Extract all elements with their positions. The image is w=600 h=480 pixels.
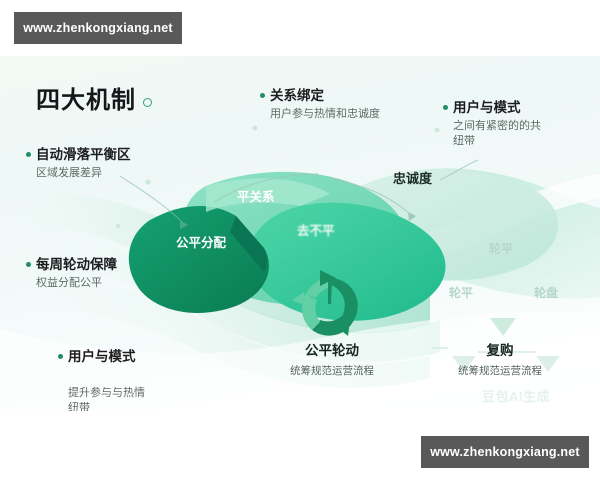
shape-label-loyalty: 忠诚度	[393, 168, 432, 187]
callout-weekly-rotation: 每周轮动保障 权益分配公平	[26, 257, 117, 291]
caption-title: 公平轮动	[268, 342, 396, 360]
callout-user-mode-right: 用户与模式 之间有紧密的的共 纽带	[443, 100, 541, 149]
callout-subtitle: 提升参与与热情 纽带	[68, 386, 145, 411]
bullet-dot-icon	[26, 152, 31, 157]
callout-subtitle: 权益分配公平	[36, 276, 117, 291]
artwork-canvas: 四大机制 平关系 公平分配 去不平 忠诚度 自动滑落平衡区 区域发展差异 每周轮…	[0, 56, 600, 411]
callout-title: 用户与模式	[58, 349, 145, 366]
ghost-label-right: 轮盘	[534, 284, 558, 301]
page-title: 四大机制	[36, 80, 136, 115]
callout-user-mode-left: 用户与模式 提升参与与热情 纽带	[58, 331, 145, 411]
caption-subtitle: 统筹规范运营流程	[434, 363, 566, 378]
callout-title: 用户与模式	[443, 100, 541, 117]
deco-dot	[435, 128, 440, 133]
callout-relation-binding: 关系绑定 用户参与热情和忠诚度	[260, 88, 380, 122]
bullet-dot-icon	[26, 262, 31, 267]
caption-fair-rotation: 公平轮动 统筹规范运营流程	[268, 342, 396, 378]
shape-label-fair-relation: 平关系	[237, 186, 275, 205]
callout-subtitle: 之间有紧密的的共 纽带	[453, 119, 541, 149]
bullet-dot-icon	[443, 105, 448, 110]
infographic-stage: 四大机制 平关系 公平分配 去不平 忠诚度 自动滑落平衡区 区域发展差异 每周轮…	[0, 0, 600, 480]
deco-dot	[145, 179, 150, 184]
watermark-top-banner: www.zhenkongxiang.net	[14, 12, 182, 44]
ai-generated-watermark: 豆包AI生成	[482, 386, 550, 405]
bullet-dot-icon	[58, 354, 63, 359]
bullet-dot-icon	[260, 93, 265, 98]
ghost-label-top: 轮平	[489, 240, 513, 257]
callout-subtitle: 用户参与热情和忠诚度	[270, 107, 380, 122]
callout-title: 自动滑落平衡区	[26, 147, 131, 164]
callout-title: 关系绑定	[260, 88, 380, 105]
shape-label-fair-allocation: 公平分配	[176, 232, 226, 251]
callout-auto-balance: 自动滑落平衡区 区域发展差异	[26, 147, 131, 181]
callout-title: 每周轮动保障	[26, 257, 117, 274]
watermark-bottom-banner: www.zhenkongxiang.net	[421, 436, 589, 468]
deco-dot	[253, 126, 258, 131]
caption-title: 复购	[434, 342, 566, 360]
caption-repurchase: 复购 统筹规范运营流程	[434, 342, 566, 378]
caption-subtitle: 统筹规范运营流程	[268, 363, 396, 378]
ghost-label-left: 轮平	[449, 284, 473, 301]
shape-label-remove-unfair: 去不平	[297, 220, 335, 239]
callout-subtitle: 区域发展差异	[36, 166, 131, 181]
deco-dot	[116, 224, 120, 228]
title-ring-icon	[143, 98, 152, 107]
